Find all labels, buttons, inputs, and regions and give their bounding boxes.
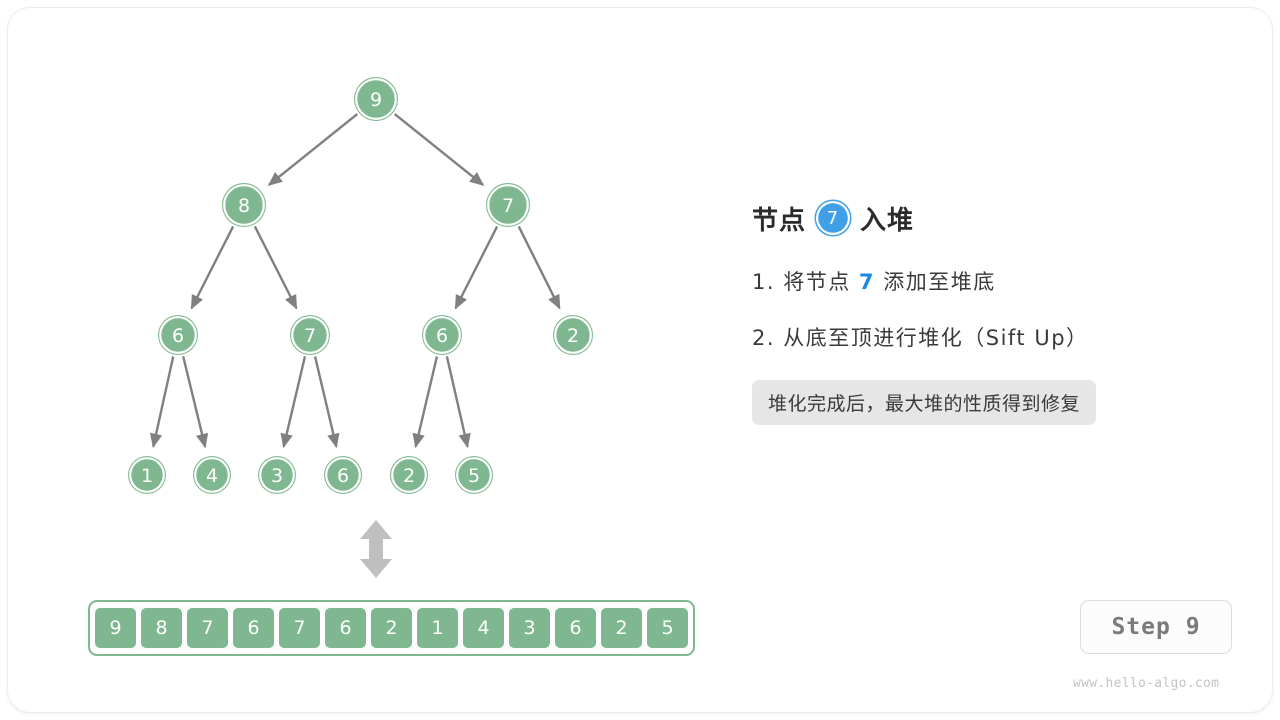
array-cell: 2 [599, 606, 644, 650]
step-list: 1. 将节点 7 添加至堆底 2. 从底至顶进行堆化（Sift Up） [752, 266, 1222, 352]
tree-node: 3 [258, 456, 296, 494]
array-cell: 7 [185, 606, 230, 650]
array-cell: 6 [231, 606, 276, 650]
panel-title: 节点 7 入堆 [752, 196, 1222, 240]
explanation-panel: 节点 7 入堆 1. 将节点 7 添加至堆底 2. 从底至顶进行堆化（Sift … [752, 196, 1222, 425]
tree-node-label: 5 [468, 465, 480, 487]
figure-canvas: 9876762143625 9876762143625 节点 7 入堆 1. 将… [0, 0, 1280, 720]
array-cell: 7 [277, 606, 322, 650]
tree-node: 5 [455, 456, 493, 494]
array-cell: 3 [507, 606, 552, 650]
tree-node: 2 [390, 456, 428, 494]
array-cell: 5 [645, 606, 690, 650]
tree-node-label: 1 [141, 465, 153, 487]
node-value-badge: 7 [816, 201, 850, 235]
tree-edge [519, 226, 560, 308]
tree-node-label: 4 [206, 465, 218, 487]
tree-node-label: 7 [502, 195, 514, 217]
footer-url: www.hello-algo.com [1073, 676, 1219, 691]
step-item-2: 2. 从底至顶进行堆化（Sift Up） [752, 322, 1222, 352]
step-2-text-before: 从底至顶进行堆化（Sift Up） [783, 326, 1088, 350]
tree-edge [416, 356, 437, 446]
tree-edge [255, 226, 297, 308]
array-cell: 9 [93, 606, 138, 650]
tree-node-label: 8 [238, 195, 250, 217]
tree-edge [192, 226, 234, 308]
tree-edges [153, 114, 559, 447]
step-1-highlight: 7 [859, 270, 875, 294]
step-badge: Step 9 [1080, 600, 1232, 654]
tree-node-label: 6 [172, 325, 184, 347]
tree-node: 2 [553, 315, 593, 355]
tree-node: 6 [158, 315, 198, 355]
tree-node: 7 [486, 183, 530, 227]
tree-node: 1 [128, 456, 166, 494]
result-note: 堆化完成后，最大堆的性质得到修复 [752, 380, 1096, 425]
array-cell: 8 [139, 606, 184, 650]
tree-node-label: 9 [370, 89, 382, 111]
tree-node-label: 7 [304, 325, 316, 347]
tree-node: 9 [354, 77, 398, 121]
tree-nodes: 9876762143625 [128, 77, 593, 494]
array-cell: 4 [461, 606, 506, 650]
tree-node: 6 [422, 315, 462, 355]
tree-node-label: 6 [337, 465, 349, 487]
panel-title-suffix: 入堆 [860, 200, 914, 237]
tree-node-label: 3 [271, 465, 283, 487]
tree-array-link-arrow [357, 518, 395, 580]
tree-node-label: 2 [403, 465, 415, 487]
tree-edge [153, 356, 173, 446]
tree-node: 4 [193, 456, 231, 494]
step-1-text-after: 添加至堆底 [883, 270, 996, 294]
tree-node-label: 6 [436, 325, 448, 347]
step-item-1: 1. 将节点 7 添加至堆底 [752, 266, 1222, 296]
step-1-index: 1. [752, 270, 775, 294]
array-cell: 6 [323, 606, 368, 650]
step-1-text-before: 将节点 [783, 270, 851, 294]
tree-edge [183, 356, 205, 446]
tree-edge [315, 356, 336, 446]
tree-edge [447, 356, 468, 446]
panel-title-prefix: 节点 [752, 200, 806, 237]
tree-node: 7 [290, 315, 330, 355]
step-2-index: 2. [752, 326, 775, 350]
array-cell: 2 [369, 606, 414, 650]
tree-edge [269, 114, 357, 185]
binary-tree-diagram: 9876762143625 [0, 0, 740, 540]
array-cell: 1 [415, 606, 460, 650]
tree-edge [284, 356, 305, 446]
tree-edge [456, 226, 498, 308]
heap-array: 9876762143625 [88, 600, 695, 656]
tree-edge [395, 114, 483, 185]
array-cell: 6 [553, 606, 598, 650]
tree-node: 6 [324, 456, 362, 494]
tree-node: 8 [222, 183, 266, 227]
tree-node-label: 2 [567, 325, 579, 347]
